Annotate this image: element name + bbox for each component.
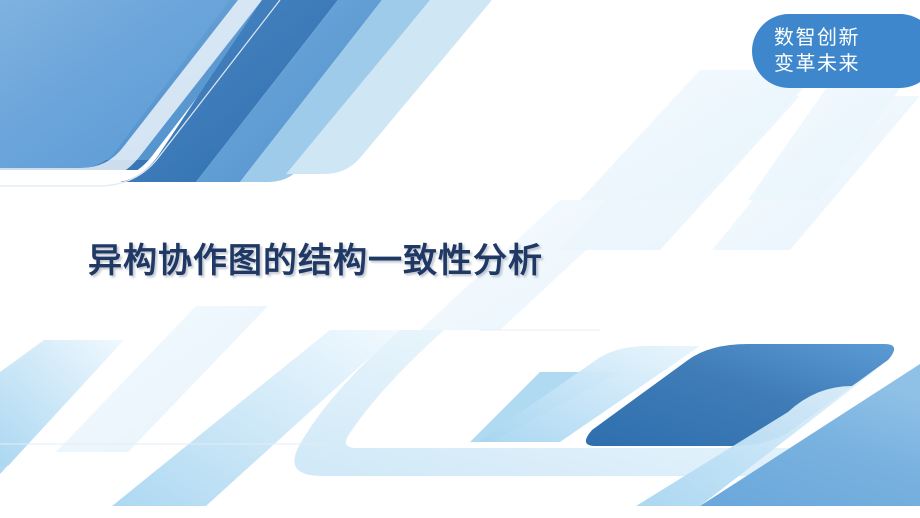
slide-canvas: 数智创新 变革未来 异构协作图的结构一致性分析: [0, 0, 920, 518]
bottom-decoration-group: [0, 306, 920, 518]
page-title: 异构协作图的结构一致性分析: [88, 233, 543, 282]
slogan-line-1: 数智创新: [774, 25, 860, 51]
slogan-line-2: 变革未来: [774, 51, 860, 77]
bottom-white-strip: [0, 506, 920, 518]
slogan-badge: 数智创新 变革未来: [752, 14, 920, 88]
